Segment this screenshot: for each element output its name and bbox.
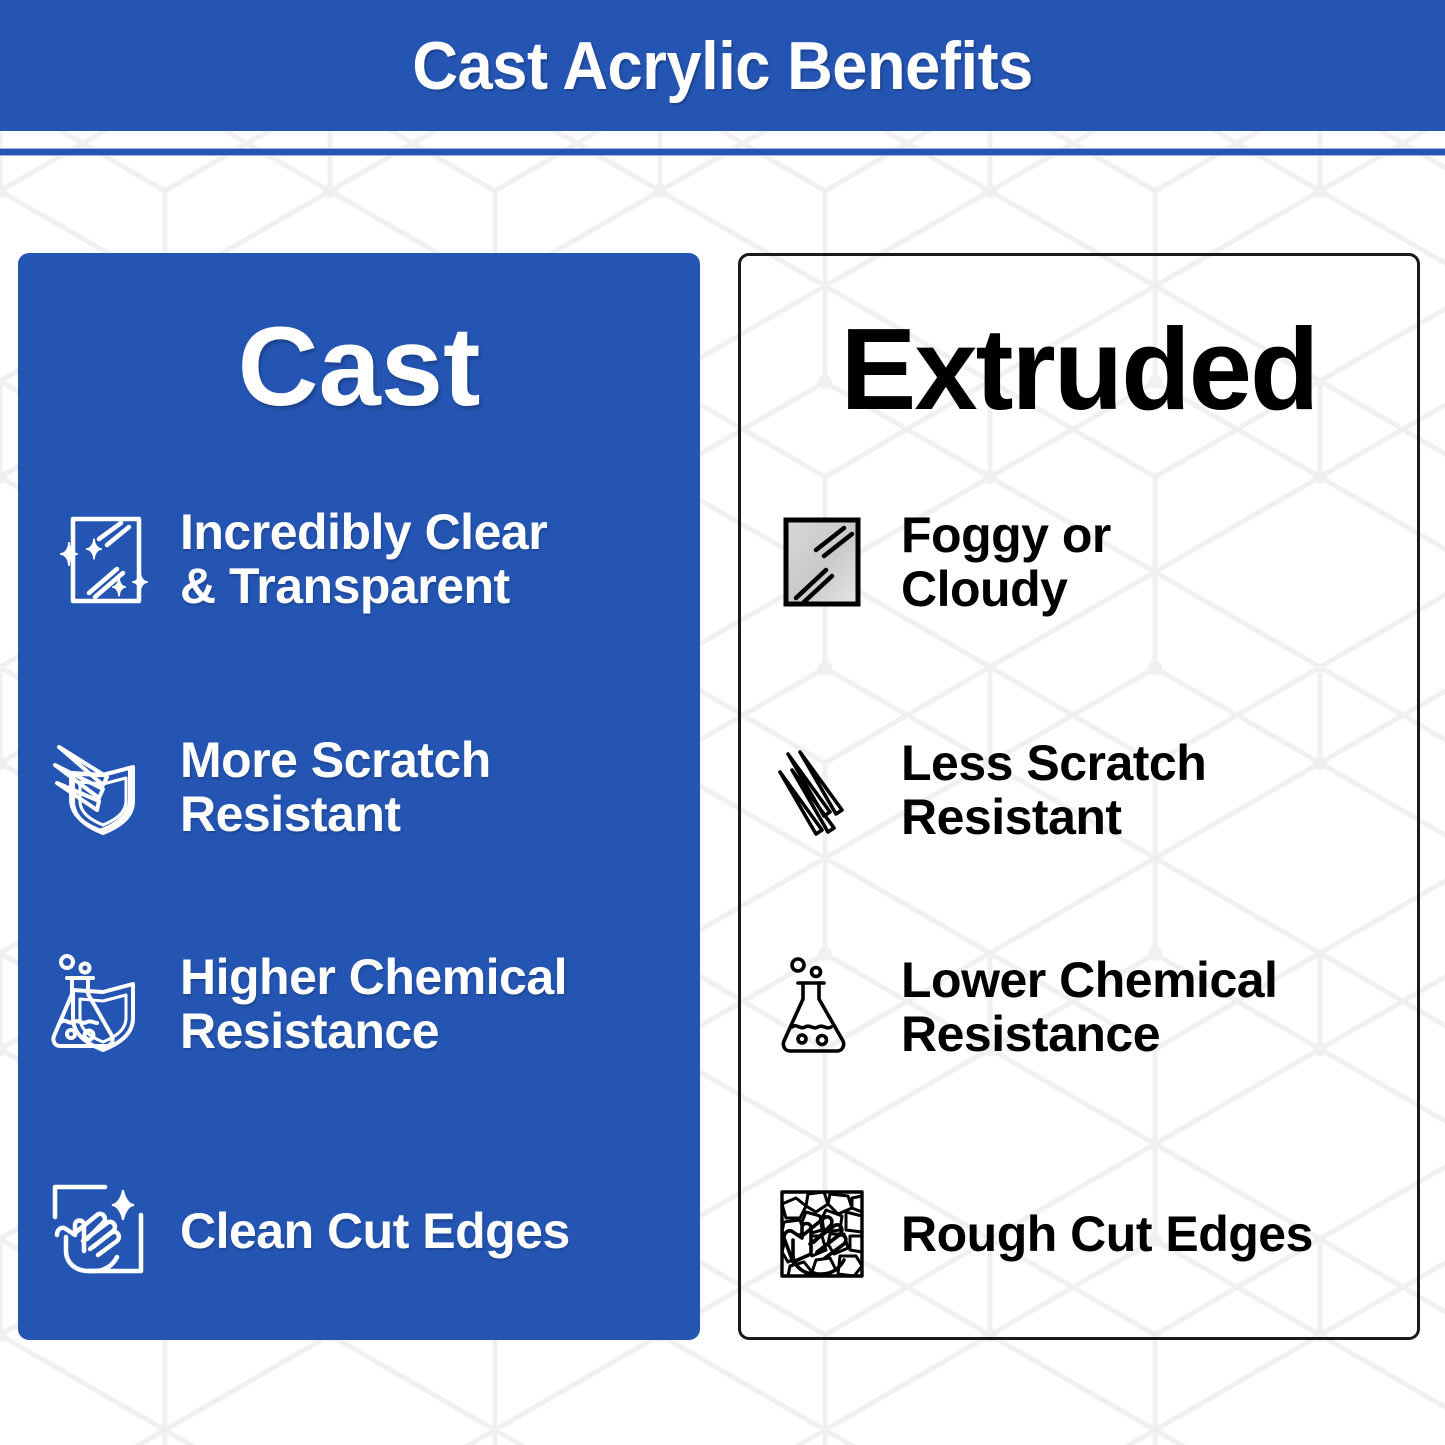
feature-label: Less Scratch Resistant <box>883 736 1206 844</box>
feature-label-line2: Resistant <box>901 790 1206 844</box>
panel-cast: Cast <box>18 253 700 1340</box>
feature-row: Rough Cut Edges <box>761 1173 1313 1295</box>
feature-label-line1: Foggy or <box>901 508 1111 562</box>
feature-label-line1: Higher Chemical <box>180 950 567 1004</box>
feature-label-line2: Resistance <box>901 1007 1277 1061</box>
feature-label-line2: Cloudy <box>901 562 1111 616</box>
header-divider-rule <box>0 148 1445 156</box>
panel-cast-heading: Cast <box>18 311 700 423</box>
feature-label: Higher Chemical Resistance <box>162 950 567 1058</box>
feature-label-line1: Incredibly Clear <box>180 505 547 559</box>
feature-label: Lower Chemical Resistance <box>883 953 1277 1061</box>
rough-edge-hand-icon <box>761 1173 883 1295</box>
page-title: Cast Acrylic Benefits <box>412 32 1033 100</box>
feature-label-line1: Lower Chemical <box>901 953 1277 1007</box>
feature-label-line2: & Transparent <box>180 559 547 613</box>
clean-wipe-sparkle-icon <box>40 1170 162 1292</box>
feature-row: Foggy or Cloudy <box>761 501 1111 623</box>
clear-glass-sparkle-icon <box>40 498 162 620</box>
feature-label: More Scratch Resistant <box>162 733 491 841</box>
comparison-panels: Cast <box>0 0 1445 1445</box>
feature-label-line2: Resistance <box>180 1004 567 1058</box>
feature-row: Lower Chemical Resistance <box>761 946 1277 1068</box>
feature-label-line2: Resistant <box>180 787 491 841</box>
scratch-shield-icon <box>40 726 162 848</box>
feature-row: Incredibly Clear & Transparent <box>40 498 547 620</box>
foggy-glass-icon <box>761 501 883 623</box>
feature-label-line1: Clean Cut Edges <box>180 1204 570 1258</box>
feature-label: Rough Cut Edges <box>883 1207 1313 1261</box>
header-band: Cast Acrylic Benefits <box>0 0 1445 131</box>
feature-label-line1: Less Scratch <box>901 736 1206 790</box>
flask-shield-icon <box>40 943 162 1065</box>
feature-label-line1: More Scratch <box>180 733 491 787</box>
feature-row: Less Scratch Resistant <box>761 729 1206 851</box>
flask-icon <box>761 946 883 1068</box>
feature-row: More Scratch Resistant <box>40 726 491 848</box>
feature-label: Incredibly Clear & Transparent <box>162 505 547 613</box>
feature-label: Clean Cut Edges <box>162 1204 570 1258</box>
panel-extruded: Extruded <box>738 253 1420 1340</box>
feature-row: Clean Cut Edges <box>40 1170 570 1292</box>
scratch-marks-icon <box>761 729 883 851</box>
panel-extruded-heading: Extruded <box>748 311 1410 427</box>
feature-label: Foggy or Cloudy <box>883 508 1111 616</box>
feature-row: Higher Chemical Resistance <box>40 943 567 1065</box>
feature-label-line1: Rough Cut Edges <box>901 1207 1313 1261</box>
